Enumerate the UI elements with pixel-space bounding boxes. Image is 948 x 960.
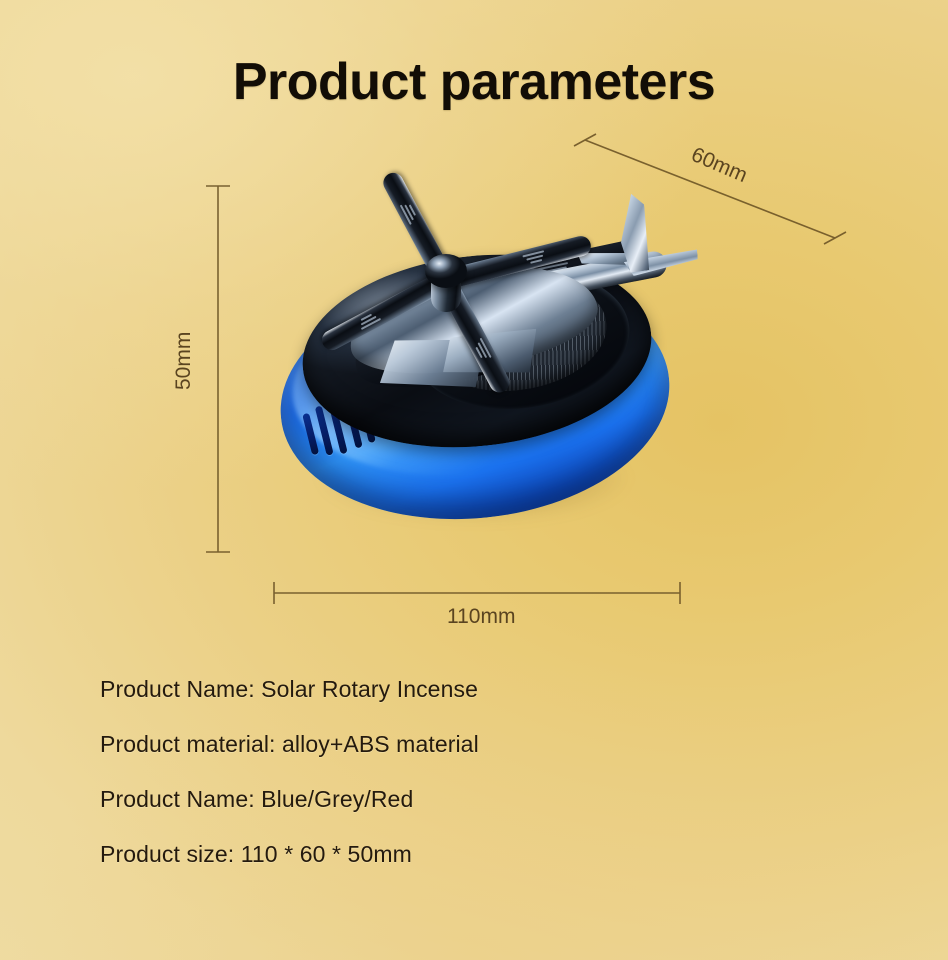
product-illustration	[262, 160, 682, 550]
rotor-blade-detail	[398, 197, 419, 225]
spec-item-product-name: Product Name: Solar Rotary Incense	[100, 676, 800, 703]
rotor-blade-detail	[522, 249, 550, 265]
dimension-label-width: 110mm	[447, 605, 515, 629]
spec-item-product-size: Product size: 110 * 60 * 50mm	[100, 841, 800, 868]
page-title: Product parameters	[0, 52, 948, 112]
product-parameters-page: Product parameters	[0, 0, 948, 960]
specification-list: Product Name: Solar Rotary Incense Produ…	[100, 676, 800, 896]
dimension-label-height: 50mm	[172, 332, 196, 390]
rotor-blade-stripe	[530, 259, 542, 263]
spec-item-product-material: Product material: alloy+ABS material	[100, 731, 800, 758]
rotor-hub	[425, 254, 467, 288]
spec-item-product-colors: Product Name: Blue/Grey/Red	[100, 786, 800, 813]
